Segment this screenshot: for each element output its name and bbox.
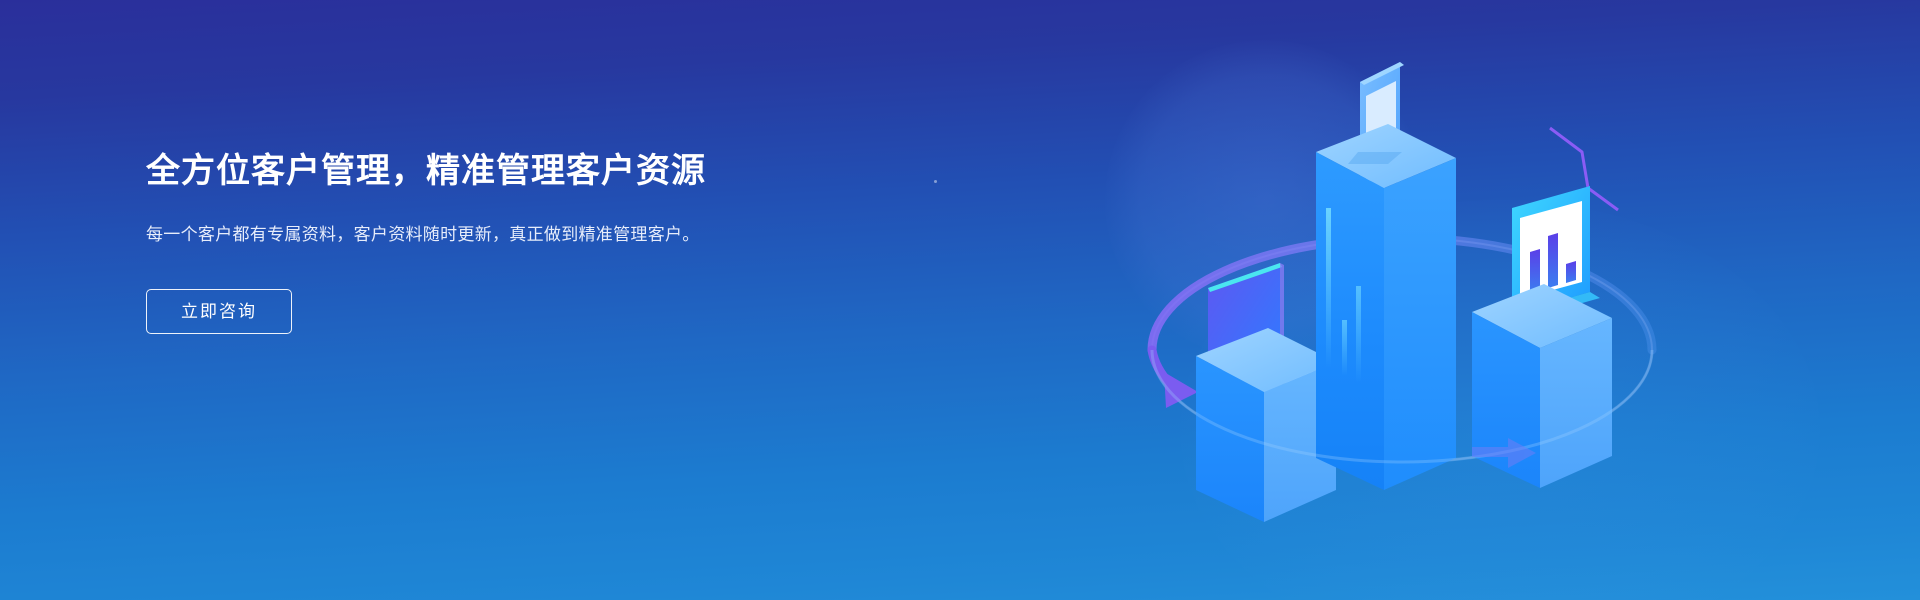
hero-banner: 全方位客户管理，精准管理客户资源 每一个客户都有专属资料，客户资料随时更新，真正… — [0, 0, 1920, 600]
sparkle-dot — [934, 180, 937, 183]
hero-illustration — [1120, 20, 1680, 580]
left-pedestal — [1196, 263, 1336, 522]
banner-copy: 全方位客户管理，精准管理客户资源 每一个客户都有专属资料，客户资料随时更新，真正… — [146, 150, 846, 334]
center-pedestal — [1316, 62, 1456, 490]
page-title: 全方位客户管理，精准管理客户资源 — [146, 150, 846, 193]
banner-description: 每一个客户都有专属资料，客户资料随时更新，真正做到精准管理客户。 — [146, 221, 736, 249]
consult-now-button[interactable]: 立即咨询 — [146, 289, 292, 334]
